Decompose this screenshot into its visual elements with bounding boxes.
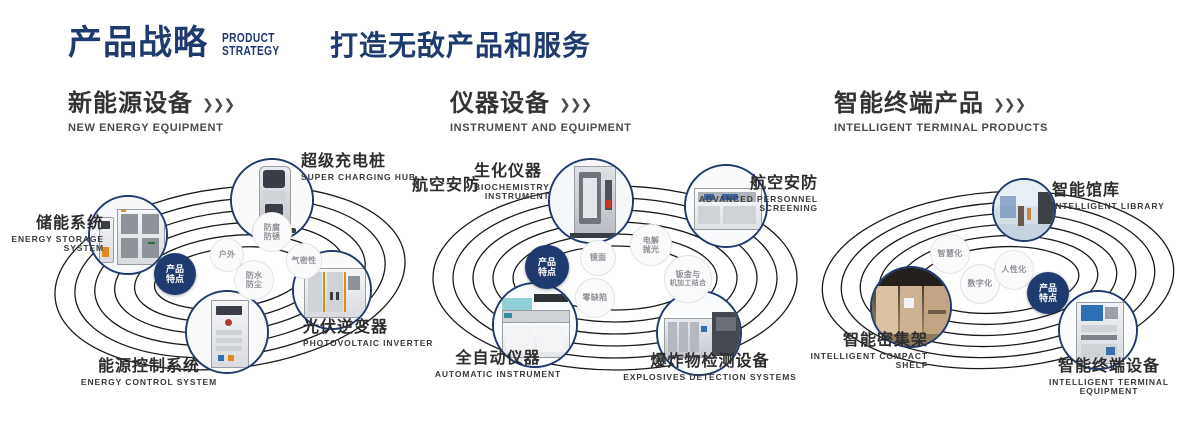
label-en-line1: EXPLOSIVES DETECTION SYSTEMS: [620, 373, 800, 383]
feature-bubble-text: 气密性: [292, 256, 317, 265]
label-cn: 超级充电桩: [301, 153, 416, 171]
feature-bubble-text: 零缺陷: [583, 293, 608, 302]
poster-canvas: 产品战略 PRODUCT STRATEGY 打造无敌产品和服务 新能源设备 ❯❯…: [0, 0, 1200, 422]
section-title-en: NEW ENERGY EQUIPMENT: [68, 122, 234, 134]
chevron-right-triple-icon: ❯❯❯: [993, 96, 1025, 113]
node-intelligent-library[interactable]: [992, 178, 1056, 242]
section-heading-intelligent-terminal: 智能终端产品 ❯❯❯ INTELLIGENT TERMINAL PRODUCTS: [834, 92, 1048, 134]
feature-bubble-line2: 机加工结合: [670, 280, 707, 288]
feature-bubble-text: 智慧化: [938, 249, 963, 258]
feature-bubble-text: 数字化: [968, 279, 993, 288]
label-en-line2: SYSTEM: [0, 244, 104, 254]
feature-core-bubble[interactable]: 产品 特点: [154, 253, 196, 295]
label-en-line2: INSTRUMENT: [474, 192, 550, 202]
label-photovoltaic-inverter: 光伏逆变器 PHOTOVOLTAIC INVERTER: [303, 319, 433, 348]
node-biochemistry-instrument[interactable]: [548, 158, 634, 244]
poster-title: 产品战略 PRODUCT STRATEGY: [68, 26, 296, 60]
feature-core-bubble[interactable]: 产品 特点: [1027, 272, 1069, 314]
label-en-line1: AUTOMATIC INSTRUMENT: [428, 370, 568, 380]
biochemistry-instrument-thumbnail: [550, 160, 632, 242]
label-aviation-security-left: 航空安防: [412, 177, 480, 195]
feature-bubble-waterproof[interactable]: 防水 防尘: [234, 260, 274, 300]
label-en-line2: SCREENING: [690, 204, 818, 214]
feature-bubble-line2: 抛光: [643, 245, 660, 254]
section-heading-instrument: 仪器设备 ❯❯❯ INSTRUMENT AND EQUIPMENT: [450, 92, 631, 134]
chevron-right-triple-icon: ❯❯❯: [559, 96, 591, 113]
feature-bubble-intelligent[interactable]: 智慧化: [930, 234, 970, 274]
feature-bubble-sheetmetal-machining[interactable]: 钣金与 机加工结合: [664, 255, 712, 303]
label-super-charging-hub: 超级充电桩 SUPER CHARGING HUB: [301, 153, 416, 182]
feature-bubble-text: 镜面: [590, 253, 607, 262]
feature-core-bubble[interactable]: 产品 特点: [525, 245, 569, 289]
label-cn: 智能终端设备: [1020, 358, 1198, 376]
label-intelligent-compact-shelf: 智能密集架 INTELLIGENT COMPACT SHELF: [810, 332, 928, 371]
section-heading-new-energy: 新能源设备 ❯❯❯ NEW ENERGY EQUIPMENT: [68, 92, 234, 134]
intelligent-library-thumbnail: [994, 180, 1054, 240]
label-cn: 航空安防: [690, 175, 818, 193]
label-automatic-instrument: 全自动仪器 AUTOMATIC INSTRUMENT: [428, 350, 568, 379]
feature-core-line2: 特点: [538, 267, 556, 277]
label-cn: 全自动仪器: [428, 350, 568, 368]
label-intelligent-library: 智能馆库 INTELLIGENT LIBRARY: [1052, 182, 1165, 211]
feature-bubble-airtightness[interactable]: 气密性: [286, 243, 322, 279]
feature-core-line2: 特点: [1039, 293, 1057, 303]
feature-core-line1: 产品: [1039, 283, 1057, 293]
poster-subtitle: 打造无敌产品和服务: [330, 32, 591, 60]
feature-bubble-anticorrosion[interactable]: 防腐 防锈: [252, 212, 292, 252]
feature-bubble-mirror[interactable]: 镜面: [580, 240, 616, 276]
poster-title-en-line2: STRATEGY: [222, 44, 280, 57]
section-title-en: INTELLIGENT TERMINAL PRODUCTS: [834, 122, 1048, 134]
section-title-cn: 新能源设备: [68, 92, 193, 116]
label-energy-storage-system: 储能系统 ENERGY STORAGE SYSTEM: [0, 215, 104, 254]
feature-core-line1: 产品: [538, 257, 556, 267]
feature-bubble-line2: 防锈: [264, 232, 281, 241]
label-en-line1: INTELLIGENT TERMINAL EQUIPMENT: [1020, 378, 1198, 397]
label-advanced-personnel-screening: 航空安防 ADVANCED PERSONNEL SCREENING: [690, 175, 818, 214]
label-cn: 生化仪器: [474, 163, 550, 181]
feature-core-line2: 特点: [166, 274, 184, 284]
poster-title-en-line1: PRODUCT: [222, 31, 280, 44]
label-cn: 航空安防: [412, 177, 480, 195]
chevron-right-triple-icon: ❯❯❯: [202, 96, 234, 113]
section-title-cn: 仪器设备: [450, 92, 550, 116]
label-en-line1: INTELLIGENT LIBRARY: [1052, 202, 1165, 212]
feature-bubble-zero-defect[interactable]: 零缺陷: [575, 278, 615, 318]
feature-bubble-line1: 钣金与: [676, 270, 701, 279]
feature-bubble-line1: 防腐: [264, 223, 281, 232]
label-en-line1: ENERGY CONTROL SYSTEM: [74, 378, 224, 388]
feature-bubble-line1: 电解: [643, 236, 660, 245]
label-en-line2: SHELF: [810, 361, 928, 371]
label-cn: 智能密集架: [810, 332, 928, 350]
label-cn: 能源控制系统: [74, 358, 224, 376]
label-cn: 爆炸物检测设备: [620, 353, 800, 371]
section-title-en: INSTRUMENT AND EQUIPMENT: [450, 122, 631, 134]
label-cn: 储能系统: [0, 215, 104, 233]
feature-bubble-line1: 防水: [246, 271, 263, 280]
poster-title-cn: 产品战略: [68, 26, 208, 60]
label-en-line1: SUPER CHARGING HUB: [301, 173, 416, 183]
feature-bubble-electropolishing[interactable]: 电解 抛光: [630, 224, 672, 266]
label-explosives-detection-systems: 爆炸物检测设备 EXPLOSIVES DETECTION SYSTEMS: [620, 353, 800, 382]
label-cn: 智能馆库: [1052, 182, 1165, 200]
poster-title-en: PRODUCT STRATEGY: [222, 31, 280, 58]
label-cn: 光伏逆变器: [303, 319, 433, 337]
feature-bubble-text: 户外: [219, 250, 236, 259]
intelligent-terminal-equipment-thumbnail: [1060, 292, 1136, 368]
feature-bubble-line2: 防尘: [246, 280, 263, 289]
feature-bubble-text: 人性化: [1002, 265, 1027, 274]
label-biochemistry-instrument: 生化仪器 BIOCHEMISTRY INSTRUMENT: [474, 163, 550, 202]
label-intelligent-terminal-equipment: 智能终端设备 INTELLIGENT TERMINAL EQUIPMENT: [1020, 358, 1198, 397]
section-title-cn: 智能终端产品: [834, 92, 984, 116]
feature-core-line1: 产品: [166, 264, 184, 274]
label-energy-control-system: 能源控制系统 ENERGY CONTROL SYSTEM: [74, 358, 224, 387]
label-en-line1: PHOTOVOLTAIC INVERTER: [303, 339, 433, 349]
